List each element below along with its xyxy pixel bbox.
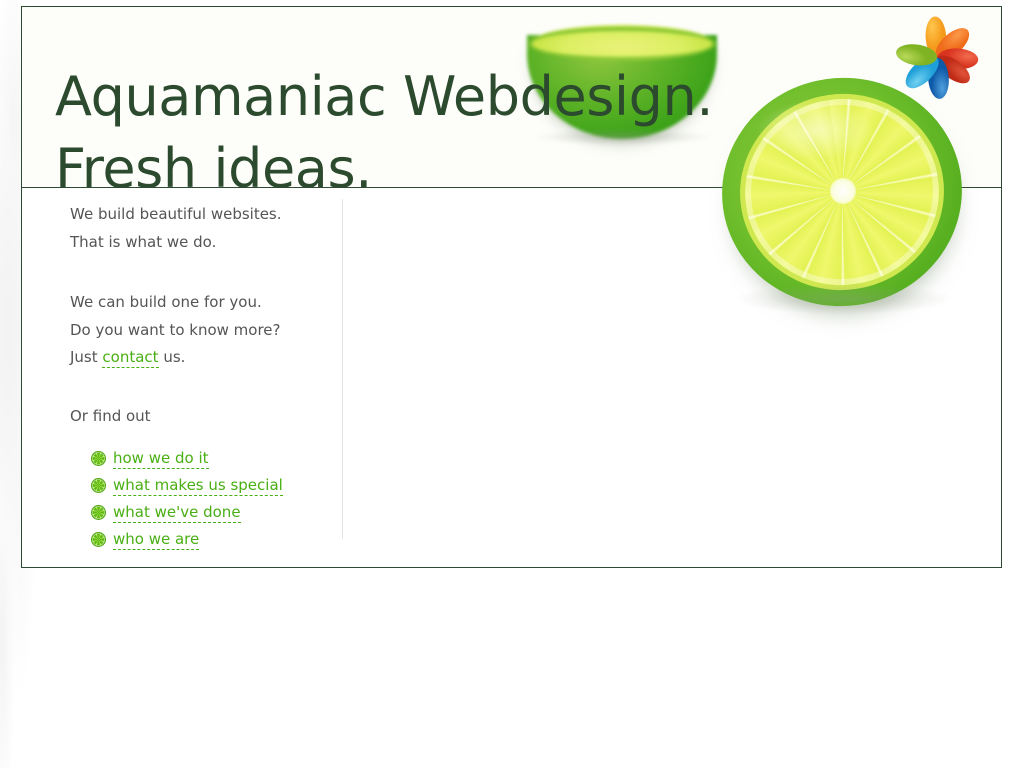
content-area: We build beautiful websites. That is wha… [22,188,1001,567]
page-title-line-1: Aquamaniac Webdesign. [55,61,713,133]
intro-line-3: We can build one for you. [70,289,342,317]
intro-column: We build beautiful websites. That is wha… [70,201,342,553]
lime-back-rind-edge [528,27,716,61]
lime-half-slice-image [722,78,962,318]
list-item: how we do it [91,445,342,472]
lime-front-core [830,178,856,204]
contact-line: Just contact us. [70,344,342,372]
list-item: who we are [91,526,342,553]
intro-line-4: Do you want to know more? [70,317,342,345]
lime-slice-bullet-icon [91,505,106,520]
link-how-we-do-it[interactable]: how we do it [113,449,209,469]
lime-slice-bullet-icon [91,532,106,547]
link-who-we-are[interactable]: who we are [113,530,199,550]
find-out-label: Or find out [70,403,342,431]
lime-front-highlight [756,100,876,160]
contact-line-suffix: us. [159,348,186,366]
list-item: what we've done [91,499,342,526]
nav-link-list: how we do it what makes us special what … [70,445,342,553]
lime-front-shadow [736,284,952,314]
lime-slice-bullet-icon [91,451,106,466]
link-what-makes-us-special[interactable]: what makes us special [113,476,283,496]
contact-link[interactable]: contact [102,348,158,368]
column-divider [342,199,343,539]
contact-line-prefix: Just [70,348,102,366]
site-frame: Aquamaniac Webdesign. Fresh ideas. [21,6,1002,568]
page-title: Aquamaniac Webdesign. Fresh ideas. [55,61,713,188]
intro-line-1: We build beautiful websites. [70,201,342,229]
list-item: what makes us special [91,472,342,499]
lime-slice-bullet-icon [91,478,106,493]
page-title-line-2: Fresh ideas. [55,133,713,188]
link-what-weve-done[interactable]: what we've done [113,503,241,523]
intro-line-2: That is what we do. [70,229,342,257]
